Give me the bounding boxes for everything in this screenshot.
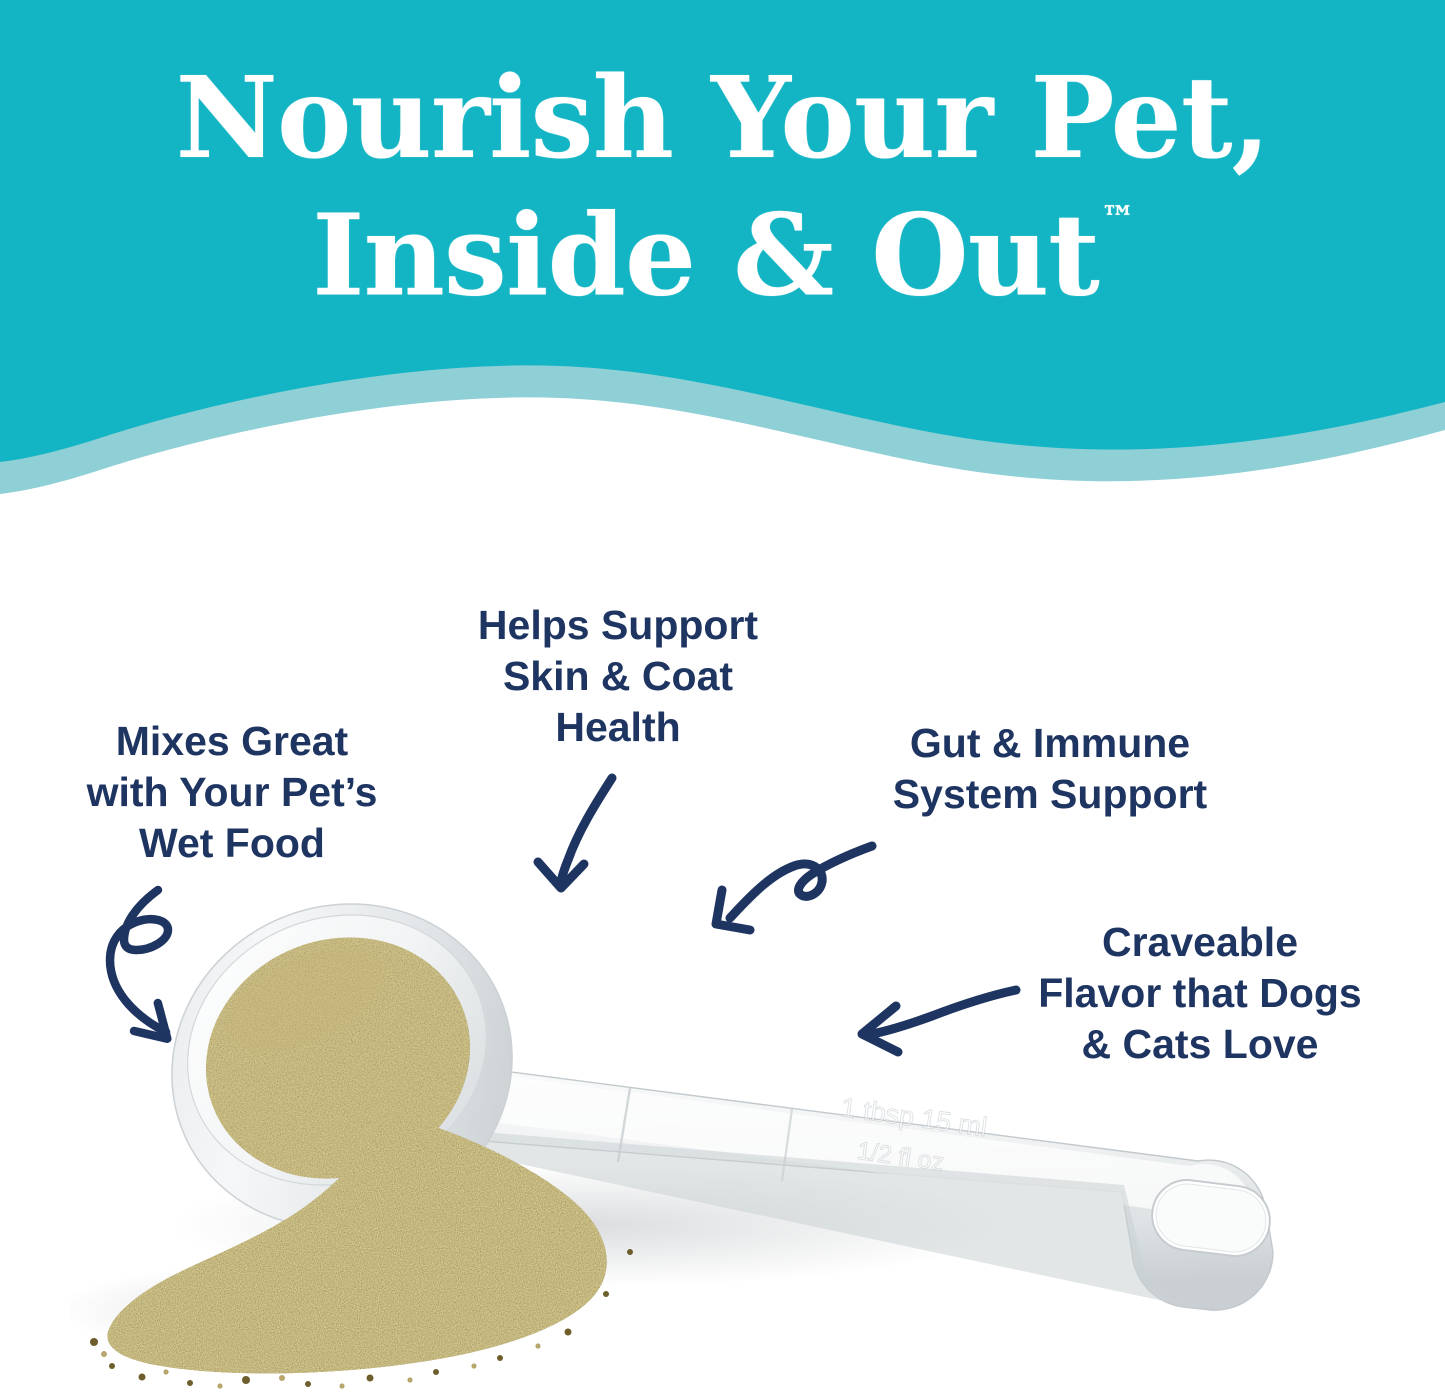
headline-line-2: Inside & Out	[312, 190, 1099, 321]
curly-loop-arrow-down-right-icon	[80, 880, 250, 1060]
callout-skin-coat-health: Helps Support Skin & Coat Health	[408, 600, 828, 753]
callout-gut-immune-support: Gut & Immune System Support	[840, 718, 1260, 820]
loop-arrow-down-left-icon	[700, 828, 885, 955]
page-title: Nourish Your Pet, Inside & Out™	[0, 56, 1445, 319]
trademark-symbol: ™	[1101, 199, 1135, 239]
promo-graphic: Nourish Your Pet, Inside & Out™	[0, 0, 1445, 1396]
header-banner: Nourish Your Pet, Inside & Out™	[0, 0, 1445, 500]
curved-arrow-down-icon	[520, 768, 650, 905]
curved-arrow-left-icon	[838, 968, 1028, 1065]
callout-craveable-flavor: Craveable Flavor that Dogs & Cats Love	[965, 917, 1435, 1070]
callout-mixes-great: Mixes Great with Your Pet’s Wet Food	[32, 716, 432, 869]
headline-line-1: Nourish Your Pet,	[175, 53, 1269, 184]
